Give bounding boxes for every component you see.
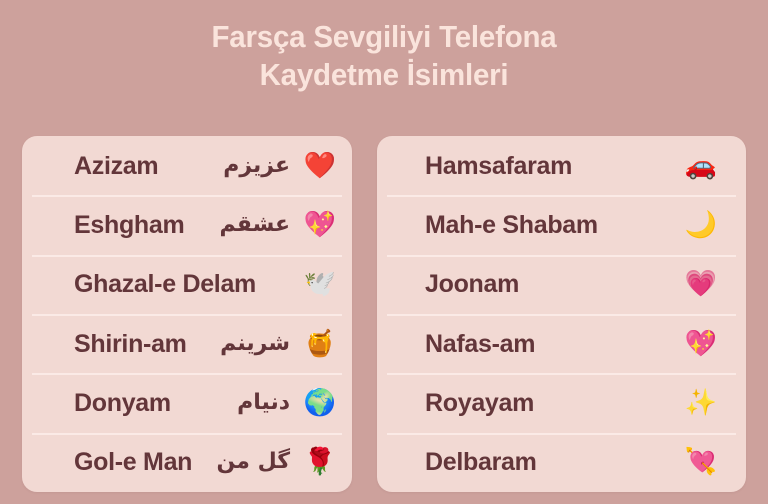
car-icon: 🚗 — [678, 152, 724, 180]
crescent-moon-icon: 🌙 — [678, 211, 724, 239]
list-item: Eshgham عشقم 💖 — [22, 195, 352, 254]
name-card-left: Azizam عزیزم ❤️ Eshgham عشقم 💖 Ghazal-e … — [22, 136, 352, 492]
dove-icon: 🕊️ — [300, 270, 340, 298]
list-item: Delbaram 💘 — [377, 433, 746, 492]
rose-icon: 🌹 — [300, 448, 340, 476]
honey-pot-icon: 🍯 — [300, 330, 340, 358]
globe-icon: 🌍 — [300, 389, 340, 417]
name-label: Joonam — [425, 270, 519, 298]
list-item: Shirin-am شرینم 🍯 — [22, 314, 352, 373]
list-item: Royayam ✨ — [377, 373, 746, 432]
page-title-line-1: Farsça Sevgiliyi Telefona — [19, 18, 749, 56]
name-label: Nafas-am — [425, 330, 535, 358]
name-label: Mah-e Shabam — [425, 211, 598, 239]
list-item: Gol-e Man گل من 🌹 — [22, 433, 352, 492]
page-title: Farsça Sevgiliyi Telefona Kaydetme İsiml… — [0, 18, 768, 94]
red-heart-icon: ❤️ — [300, 152, 340, 180]
farsi-label: دنیام — [237, 389, 290, 417]
name-label: Gol-e Man — [74, 448, 192, 476]
name-label: Donyam — [74, 389, 171, 417]
farsi-label: عشقم — [219, 211, 290, 239]
name-label: Royayam — [425, 389, 534, 417]
page-title-line-2: Kaydetme İsimleri — [19, 56, 749, 94]
sparkles-icon: ✨ — [678, 389, 724, 417]
farsi-label: عزیزم — [223, 152, 290, 180]
growing-heart-icon: 💗 — [678, 270, 724, 298]
list-item: Azizam عزیزم ❤️ — [22, 136, 352, 195]
list-item: Hamsafaram 🚗 — [377, 136, 746, 195]
poster: Farsça Sevgiliyi Telefona Kaydetme İsiml… — [0, 0, 768, 504]
sparkling-heart-icon: 💖 — [678, 330, 724, 358]
name-lists: Azizam عزیزم ❤️ Eshgham عشقم 💖 Ghazal-e … — [22, 136, 746, 492]
name-label: Delbaram — [425, 448, 537, 476]
list-item: Ghazal-e Delam 🕊️ — [22, 255, 352, 314]
list-item: Donyam دنیام 🌍 — [22, 373, 352, 432]
heart-with-arrow-icon: 💘 — [678, 448, 724, 476]
name-card-right: Hamsafaram 🚗 Mah-e Shabam 🌙 Joonam 💗 Naf… — [377, 136, 746, 492]
name-label: Ghazal-e Delam — [74, 270, 256, 298]
list-item: Mah-e Shabam 🌙 — [377, 195, 746, 254]
name-label: Shirin-am — [74, 330, 187, 358]
sparkling-heart-icon: 💖 — [300, 211, 340, 239]
name-label: Eshgham — [74, 211, 184, 239]
list-item: Nafas-am 💖 — [377, 314, 746, 373]
farsi-label: گل من — [216, 448, 290, 476]
name-label: Hamsafaram — [425, 152, 572, 180]
name-label: Azizam — [74, 152, 158, 180]
farsi-label: شرینم — [220, 330, 290, 358]
list-item: Joonam 💗 — [377, 255, 746, 314]
